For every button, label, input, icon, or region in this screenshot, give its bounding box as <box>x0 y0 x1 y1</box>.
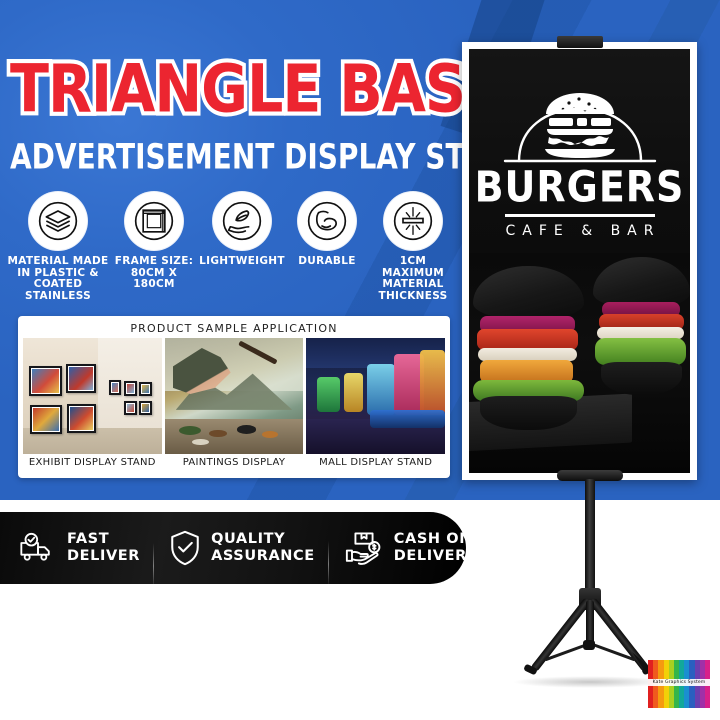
service-badge-bar: FAST DELIVER QUALITY ASSURANCE <box>0 512 466 584</box>
cash-hand-icon <box>343 530 385 566</box>
service-badge-cash-on-delivery: CASH ON DELIVERY <box>329 530 491 566</box>
sample-caption-2: MALL DISPLAY STAND <box>306 457 445 468</box>
service-badge-fast-deliver: FAST DELIVER <box>0 531 154 565</box>
sample-caption-0: EXHIBIT DISPLAY STAND <box>23 457 162 468</box>
poster-logo-block: BURGERS CAFE & BAR <box>469 79 690 239</box>
page-title: TRIANGLE BASE <box>10 56 469 124</box>
service-label-line2: DELIVER <box>67 548 140 565</box>
poster-clamp <box>557 36 603 48</box>
painter-easel-photo <box>165 338 304 454</box>
delivery-truck-icon <box>18 531 58 565</box>
feather-hand-icon <box>213 192 271 250</box>
sample-thumbnails <box>23 338 445 454</box>
service-label-line1: CASH ON <box>394 531 477 548</box>
feature-label-line1: FRAME SIZE: <box>110 256 198 268</box>
layers-icon <box>29 192 87 250</box>
feature-label-line3: COATED STAINLESS <box>6 279 110 302</box>
tripod-foot-center <box>583 640 595 650</box>
watermark-logo: Kate Graphics System <box>648 660 710 708</box>
feature-label-line3: THICKNESS <box>368 291 458 303</box>
service-badge-quality-assurance: QUALITY ASSURANCE <box>154 529 329 567</box>
feature-item-thickness: 1CM MAXIMUM MATERIAL THICKNESS <box>368 192 458 302</box>
feature-label-line1: DURABLE <box>286 256 368 268</box>
header-block: TRIANGLE BASE ADVERTISEMENT DISPLAY STAN… <box>10 56 460 169</box>
feature-label-line1: 1CM MAXIMUM <box>368 256 458 279</box>
feature-item-lightweight: LIGHTWEIGHT <box>198 192 286 302</box>
feature-label-line2: MATERIAL <box>368 279 458 291</box>
sample-captions: EXHIBIT DISPLAY STAND PAINTINGS DISPLAY … <box>23 457 445 468</box>
panel-title: PRODUCT SAMPLE APPLICATION <box>23 320 445 338</box>
feature-item-durable: DURABLE <box>286 192 368 302</box>
poster-tagline: CAFE & BAR <box>469 223 690 239</box>
thickness-icon <box>384 192 442 250</box>
feature-item-frame-size: FRAME SIZE: 80CM x 180CM <box>110 192 198 302</box>
poster-brand: BURGERS <box>469 165 690 210</box>
service-label-line1: QUALITY <box>211 531 315 548</box>
service-label-line2: DELIVERY <box>394 548 477 565</box>
tripod-pole <box>585 479 595 597</box>
page-subtitle: ADVERTISEMENT DISPLAY STAND <box>10 136 460 177</box>
black-bun-burgers-photo <box>469 253 690 473</box>
feature-label-line1: LIGHTWEIGHT <box>198 256 286 268</box>
art-gallery-photo <box>23 338 162 454</box>
display-poster: BURGERS CAFE & BAR <box>462 42 697 480</box>
arcade-mall-photo <box>306 338 445 454</box>
poster-rule <box>505 214 655 217</box>
tripod-leg-left <box>531 598 591 672</box>
burger-dome-icon <box>495 79 665 167</box>
feature-list: MATERIAL MADE IN PLASTIC & COATED STAINL… <box>6 192 458 302</box>
feature-label-line1: MATERIAL MADE <box>6 256 110 268</box>
sample-application-panel: PRODUCT SAMPLE APPLICATION <box>18 316 450 478</box>
bicep-icon <box>298 192 356 250</box>
service-label-line2: ASSURANCE <box>211 548 315 565</box>
sample-caption-1: PAINTINGS DISPLAY <box>165 457 304 468</box>
service-label-line1: FAST <box>67 531 140 548</box>
watermark-text: Kate Graphics System <box>648 679 710 686</box>
feature-label-line2: 80CM x 180CM <box>110 268 198 291</box>
tripod-leg-center <box>586 600 594 644</box>
feature-item-material: MATERIAL MADE IN PLASTIC & COATED STAINL… <box>6 192 110 302</box>
shield-check-icon <box>168 529 202 567</box>
advertisement-banner: TRIANGLE BASE ADVERTISEMENT DISPLAY STAN… <box>0 0 720 720</box>
frame-size-icon <box>125 192 183 250</box>
